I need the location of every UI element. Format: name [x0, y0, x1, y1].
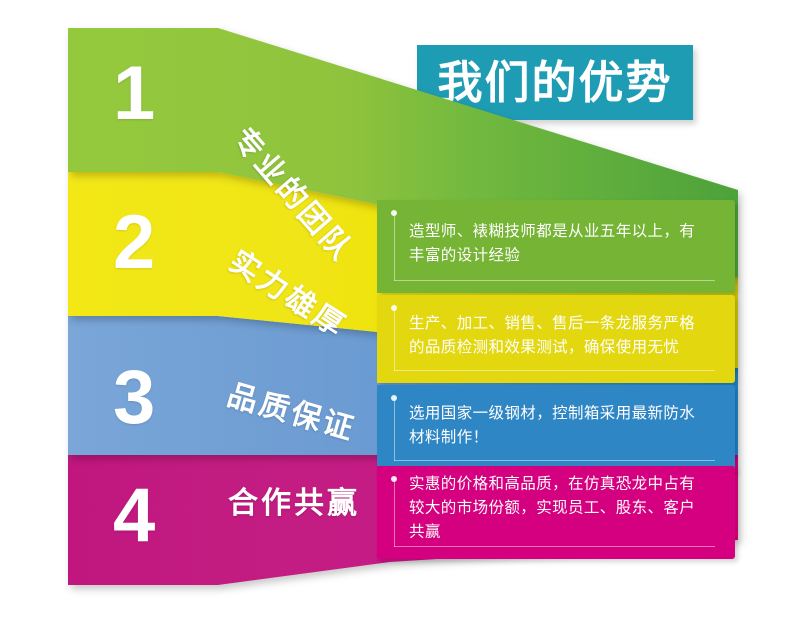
- description-panel-4: 实惠的价格和高品质，在仿真恐龙中占有较大的市场份额，实现员工、股东、客户共赢: [377, 466, 735, 559]
- description-text-2: 生产、加工、销售、售后一条龙服务严格的品质检测和效果测试，确保使用无忧: [409, 312, 707, 360]
- panel-underline: [394, 546, 715, 547]
- panel-underline: [394, 280, 715, 281]
- description-panel-2: 生产、加工、销售、售后一条龙服务严格的品质检测和效果测试，确保使用无忧: [377, 295, 735, 383]
- description-panel-3: 选用国家一级钢材，控制箱采用最新防水材料制作！: [377, 385, 735, 473]
- panel-underline: [394, 460, 715, 461]
- panel-underline: [394, 370, 715, 371]
- description-text-3: 选用国家一级钢材，控制箱采用最新防水材料制作！: [409, 402, 707, 450]
- panel-divider: [394, 307, 395, 371]
- description-text-1: 造型师、裱糊技师都是从业五年以上，有丰富的设计经验: [409, 220, 707, 268]
- panel-divider: [394, 478, 395, 547]
- description-panel-1: 造型师、裱糊技师都是从业五年以上，有丰富的设计经验: [377, 200, 735, 293]
- infographic-canvas: 我们的优势: [0, 0, 800, 622]
- panel-divider: [394, 212, 395, 281]
- panel-divider: [394, 397, 395, 461]
- description-text-4: 实惠的价格和高品质，在仿真恐龙中占有较大的市场份额，实现员工、股东、客户共赢: [409, 472, 707, 544]
